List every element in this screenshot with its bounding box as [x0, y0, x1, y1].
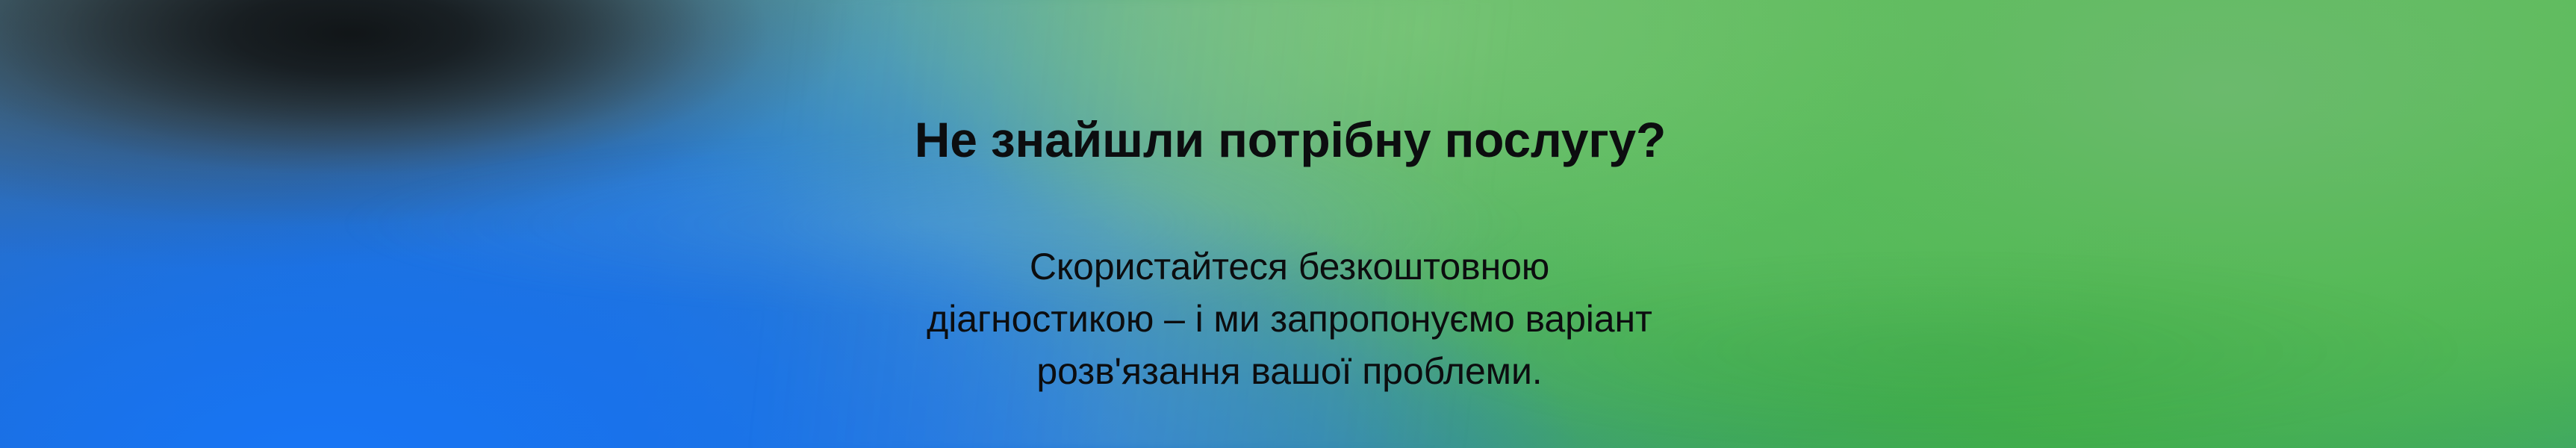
banner-description-line-1: Скористайтеся безкоштовною	[3, 240, 2576, 293]
banner-description: Скористайтеся безкоштовною діагностикою …	[3, 240, 2576, 397]
banner-content: Не знайшли потрібну послугу? Скористайте…	[0, 0, 2576, 448]
banner-description-line-3: розв'язання вашої проблеми.	[3, 345, 2576, 397]
banner-headline: Не знайшли потрібну послугу?	[4, 115, 2576, 164]
banner-description-line-2: діагностикою – і ми запропонуємо варіант	[3, 293, 2576, 345]
promo-banner: Не знайшли потрібну послугу? Скористайте…	[0, 0, 2576, 448]
